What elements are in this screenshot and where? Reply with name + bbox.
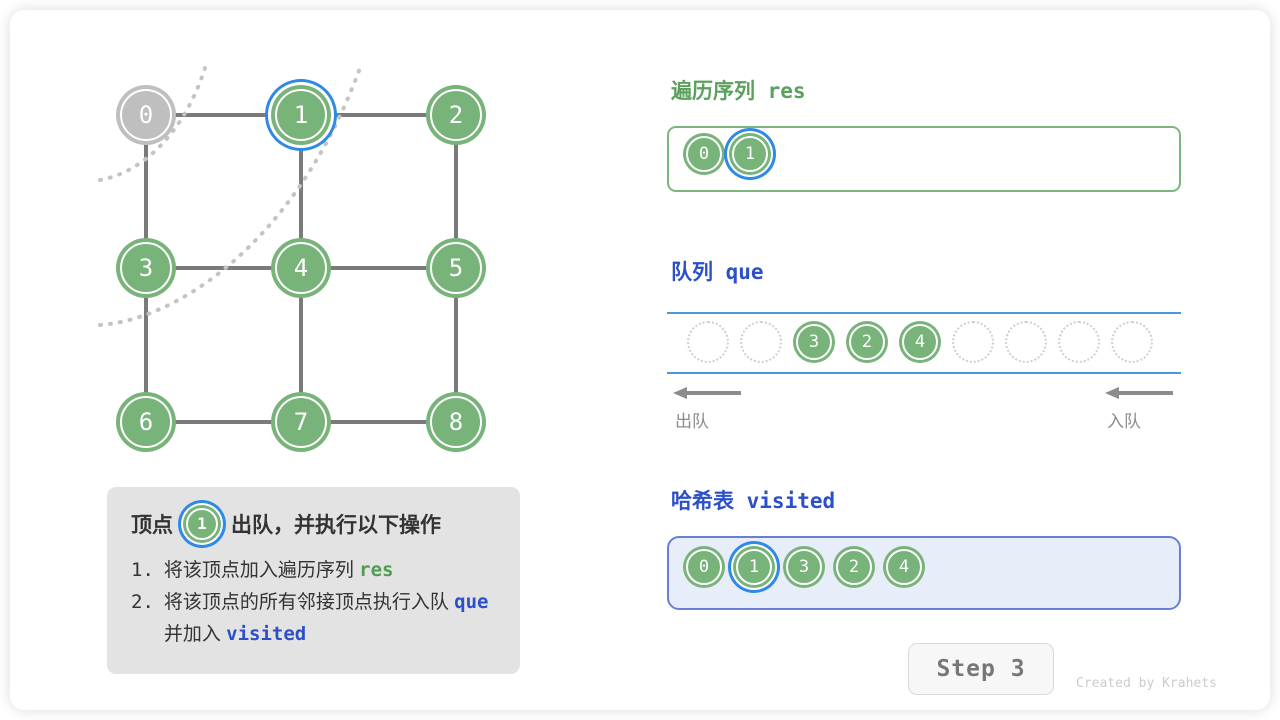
graph-node-4[interactable]: 4 [271,238,331,298]
graph-panel: 012345678 [0,0,620,470]
graph-node-3[interactable]: 3 [116,238,176,298]
caption-step-number: 2. [131,587,154,651]
value-node-label: 1 [749,559,759,576]
queue-line-bottom [667,372,1181,374]
graph-node-label: 5 [449,256,463,280]
caption-step-text: 将该顶点加入遍历序列 res [164,555,506,587]
credit-text: Created by Krahets [1076,676,1217,691]
caption-step: 1.将该顶点加入遍历序列 res [131,555,506,587]
caption-step-text: 将该顶点的所有邻接顶点执行入队 que 并加入 visited [164,587,506,651]
res-items: 01 [683,133,771,175]
caption-box: 顶点 1 出队，并执行以下操作 1.将该顶点加入遍历序列 res2.将该顶点的所… [107,487,520,674]
screenshot-root: 012345678 遍历序列 res 01 队列 que 324 出队 入队 哈… [0,0,1280,720]
caption-node-badge: 1 [183,505,221,543]
value-node-label: 0 [699,146,709,163]
value-node-label: 4 [915,334,925,351]
enqueue-arrow-icon [1103,385,1177,401]
value-node-label: 0 [699,559,709,576]
enqueue-label: 入队 [1107,407,1141,432]
visited-item: 4 [883,546,925,588]
visited-item: 2 [833,546,875,588]
caption-code-token: res [359,559,393,581]
value-node-label: 3 [809,334,819,351]
queue-item: 2 [846,321,888,363]
caption-code-token: que [454,591,488,613]
queue-title: 队列 que [671,256,764,286]
value-node-label: 2 [849,559,859,576]
queue-item: 3 [793,321,835,363]
visited-title: 哈希表 visited [671,485,835,515]
step-badge: Step 3 [908,643,1054,695]
graph-node-label: 8 [449,410,463,434]
visited-box: 01324 [667,536,1181,610]
caption-head-prefix: 顶点 [131,509,173,539]
res-box: 01 [667,126,1181,192]
queue-empty-slot [687,321,729,363]
visited-item: 1 [733,546,775,588]
visited-item: 3 [783,546,825,588]
queue-band: 324 [667,312,1181,374]
queue-empty-slot [1005,321,1047,363]
caption-headline: 顶点 1 出队，并执行以下操作 [131,505,441,543]
graph-node-2[interactable]: 2 [426,85,486,145]
graph-node-1[interactable]: 1 [271,85,331,145]
queue-empty-slot [1111,321,1153,363]
queue-empty-slot [740,321,782,363]
queue-line-top [667,312,1181,314]
queue-slots: 324 [687,321,1153,363]
graph-node-8[interactable]: 8 [426,392,486,452]
visited-item: 0 [683,546,725,588]
value-node-label: 3 [799,559,809,576]
dequeue-arrow-icon [671,385,745,401]
step-label: Step 3 [936,656,1025,682]
queue-empty-slot [952,321,994,363]
value-node-label: 4 [899,559,909,576]
res-item: 1 [729,133,771,175]
res-item: 0 [683,133,725,175]
value-node-label: 1 [745,146,755,163]
caption-head-suffix: 出队，并执行以下操作 [231,509,441,539]
graph-node-0[interactable]: 0 [116,85,176,145]
caption-code-token: visited [226,623,306,645]
graph-node-label: 1 [294,103,308,127]
dequeue-label: 出队 [675,407,709,432]
graph-node-label: 3 [139,256,153,280]
graph-node-5[interactable]: 5 [426,238,486,298]
graph-node-label: 7 [294,410,308,434]
visited-items: 01324 [683,546,925,588]
queue-empty-slot [1058,321,1100,363]
caption-step: 2.将该顶点的所有邻接顶点执行入队 que 并加入 visited [131,587,506,651]
caption-node-label: 1 [197,516,207,532]
graph-node-label: 2 [449,103,463,127]
queue-item: 4 [899,321,941,363]
caption-steps: 1.将该顶点加入遍历序列 res2.将该顶点的所有邻接顶点执行入队 que 并加… [131,555,506,650]
res-title: 遍历序列 res [671,75,806,105]
graph-node-label: 4 [294,256,308,280]
caption-step-number: 1. [131,555,154,587]
queue-arrow-row: 出队 入队 [667,385,1181,443]
graph-node-label: 6 [139,410,153,434]
graph-node-7[interactable]: 7 [271,392,331,452]
graph-node-label: 0 [139,103,153,127]
value-node-label: 2 [862,334,872,351]
graph-node-6[interactable]: 6 [116,392,176,452]
